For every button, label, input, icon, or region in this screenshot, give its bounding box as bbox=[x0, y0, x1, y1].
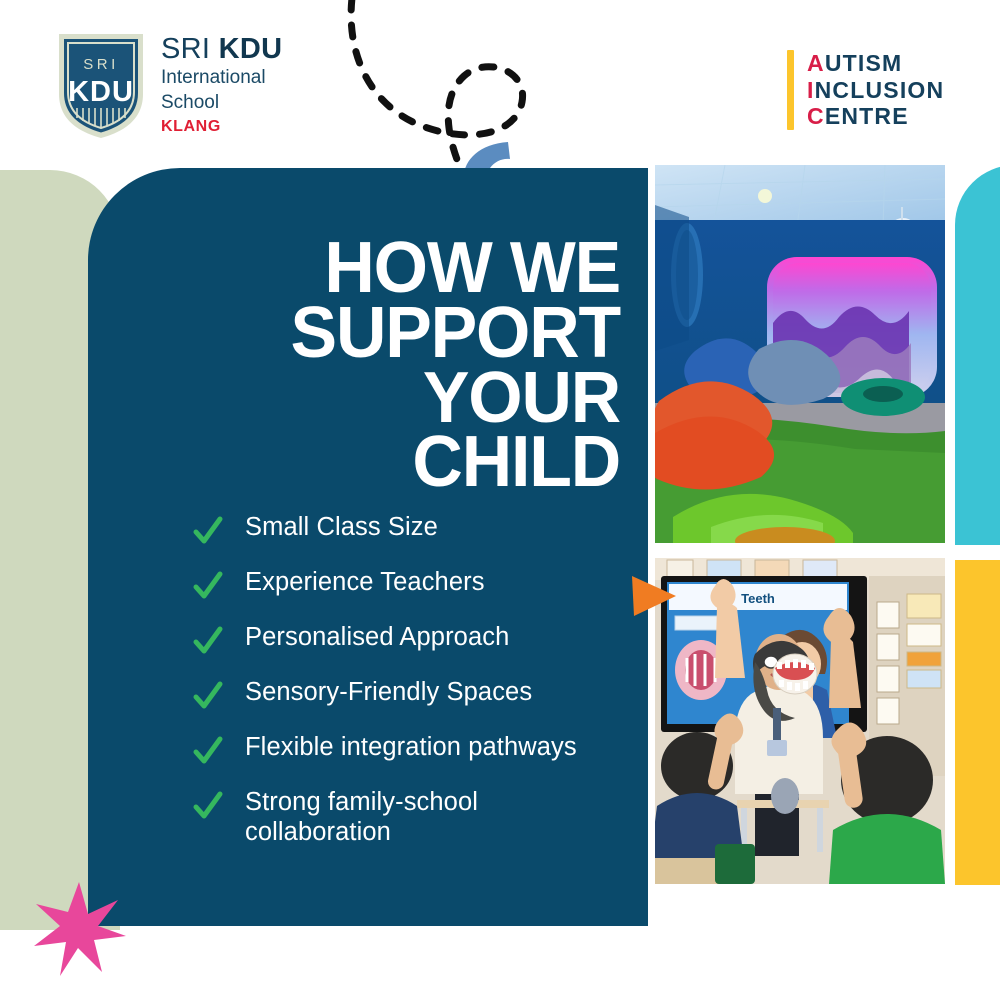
list-item-label: Personalised Approach bbox=[245, 623, 509, 653]
aic-line-autism: AUTISM bbox=[807, 50, 944, 77]
aic-letter-c: C bbox=[807, 103, 825, 129]
list-item: Flexible integration pathways bbox=[193, 733, 588, 768]
aic-letter-i: I bbox=[807, 77, 815, 103]
headline-line-2: SUPPORT bbox=[135, 301, 620, 366]
school-logo-wordmark: SRI KDU International School KLANG bbox=[161, 33, 282, 134]
aic-inclusion-rest: NCLUSION bbox=[815, 77, 945, 103]
list-item-label: Experience Teachers bbox=[245, 568, 485, 598]
classroom-photo: Teeth bbox=[655, 558, 945, 884]
main-content-card: HOW WE SUPPORT YOUR CHILD Small Class Si… bbox=[88, 168, 648, 926]
screen-title-text: Teeth bbox=[741, 591, 775, 606]
school-name-line2: International bbox=[161, 68, 282, 89]
school-name-sri: SRI bbox=[161, 33, 219, 65]
list-item-label: Strong family-school collaboration bbox=[245, 788, 588, 847]
check-icon bbox=[193, 736, 223, 768]
school-name-line3: School bbox=[161, 93, 282, 114]
list-item: Small Class Size bbox=[193, 513, 588, 548]
aic-wordmark: AUTISM INCLUSION CENTRE bbox=[807, 50, 944, 130]
headline-line-1: HOW WE bbox=[135, 236, 620, 301]
aic-line-centre: CENTRE bbox=[807, 103, 944, 130]
list-item: Strong family-school collaboration bbox=[193, 788, 588, 847]
aic-line-inclusion: INCLUSION bbox=[807, 77, 944, 104]
aic-centre-rest: ENTRE bbox=[825, 103, 909, 129]
headline-line-3: YOUR bbox=[135, 366, 620, 431]
headline-line-4: CHILD bbox=[135, 430, 620, 495]
aic-yellow-rule bbox=[787, 50, 794, 130]
list-item: Sensory-Friendly Spaces bbox=[193, 678, 588, 713]
aic-autism-rest: UTISM bbox=[825, 50, 903, 76]
check-icon bbox=[193, 571, 223, 603]
check-icon bbox=[193, 626, 223, 658]
list-item: Experience Teachers bbox=[193, 568, 588, 603]
svg-text:SRI: SRI bbox=[83, 56, 119, 73]
school-campus-klang: KLANG bbox=[161, 119, 282, 135]
school-name-kdu: KDU bbox=[219, 33, 283, 65]
list-item-label: Flexible integration pathways bbox=[245, 733, 577, 763]
poster-canvas: SRI KDU SRI KDU International School KLA… bbox=[0, 0, 1000, 1000]
check-icon bbox=[193, 516, 223, 548]
pink-star-accent bbox=[30, 880, 128, 978]
check-icon bbox=[193, 791, 223, 823]
autism-inclusion-centre-logo: AUTISM INCLUSION CENTRE bbox=[787, 50, 944, 130]
support-features-list: Small Class Size Experience Teachers Per… bbox=[193, 513, 588, 847]
orange-triangle-accent bbox=[630, 572, 678, 618]
svg-text:KDU: KDU bbox=[68, 76, 134, 108]
sri-kdu-shield-icon: SRI KDU bbox=[55, 28, 147, 140]
list-item: Personalised Approach bbox=[193, 623, 588, 658]
cyan-accent-bar bbox=[955, 165, 1000, 545]
school-name-line1: SRI KDU bbox=[161, 35, 282, 64]
aic-letter-a: A bbox=[807, 50, 825, 76]
list-item-label: Small Class Size bbox=[245, 513, 438, 543]
list-item-label: Sensory-Friendly Spaces bbox=[245, 678, 532, 708]
sensory-room-photo bbox=[655, 165, 945, 543]
check-icon bbox=[193, 681, 223, 713]
sri-kdu-logo: SRI KDU SRI KDU International School KLA… bbox=[55, 28, 282, 140]
page-title: HOW WE SUPPORT YOUR CHILD bbox=[135, 236, 620, 495]
yellow-accent-bar bbox=[955, 560, 1000, 885]
